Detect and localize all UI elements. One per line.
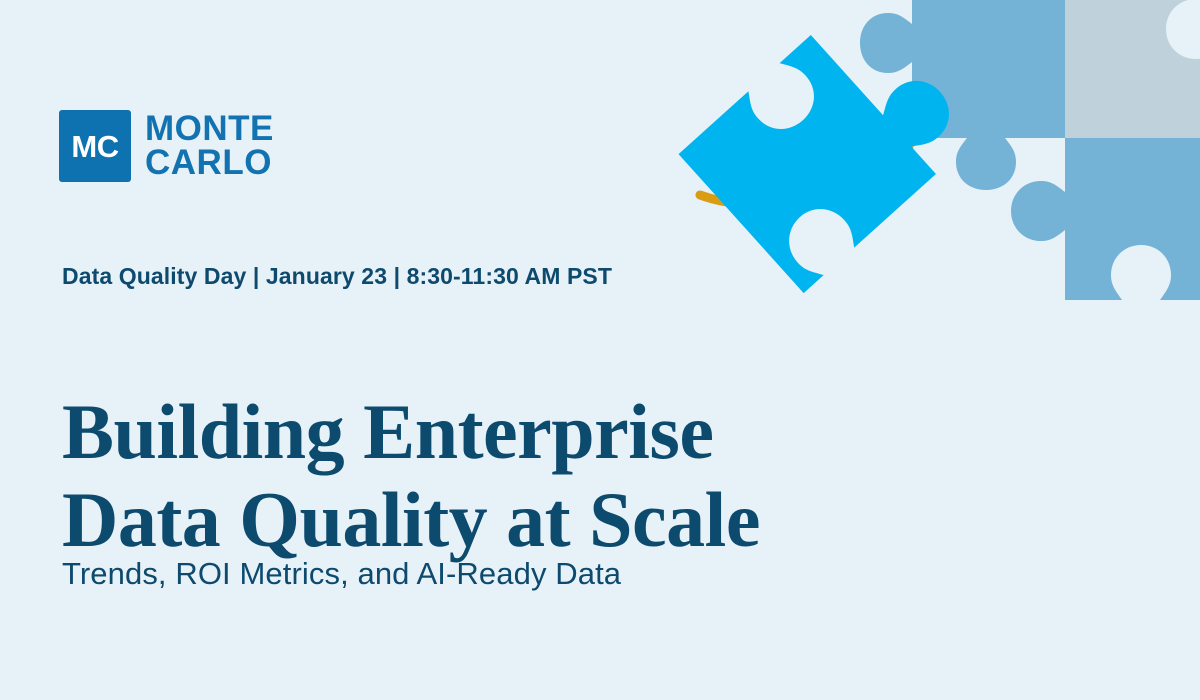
monte-carlo-logo: MC MONTE CARLO: [59, 110, 274, 182]
logo-word-line-2: CARLO: [145, 146, 274, 180]
puzzle-piece-top-left: [860, 0, 1065, 190]
puzzle-illustration: [660, 0, 1200, 300]
logo-word-line-1: MONTE: [145, 112, 274, 146]
headline-line-2: Data Quality at Scale: [62, 476, 942, 564]
webinar-banner: MC MONTE CARLO Data Quality Day | Januar…: [0, 0, 1200, 700]
logo-mark-square: MC: [59, 110, 131, 182]
puzzle-piece-bottom-right: [1011, 138, 1200, 300]
event-details-line: Data Quality Day | January 23 | 8:30-11:…: [62, 263, 612, 290]
logo-mark-text: MC: [71, 131, 118, 162]
headline-line-1: Building Enterprise: [62, 388, 942, 476]
page-title: Building Enterprise Data Quality at Scal…: [62, 388, 942, 564]
loose-puzzle-piece: [679, 0, 980, 293]
curved-arrow-icon: [700, 137, 915, 205]
subtitle: Trends, ROI Metrics, and AI-Ready Data: [62, 556, 621, 592]
puzzle-piece-top-right: [1065, 0, 1200, 190]
logo-wordmark: MONTE CARLO: [145, 112, 274, 181]
